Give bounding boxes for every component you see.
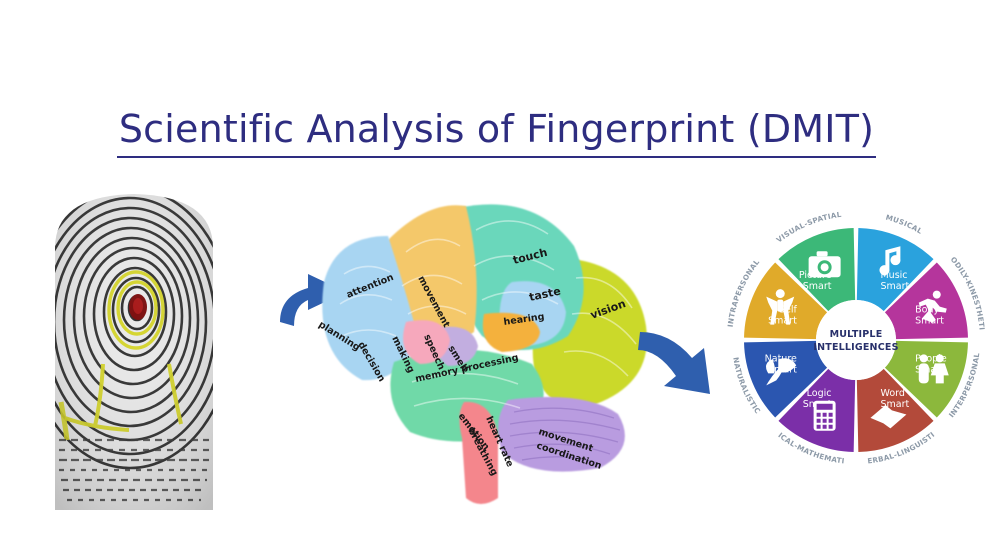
page-title-block: Scientific Analysis of Fingerprint (DMIT… [0,108,993,158]
fingerprint-image [45,188,223,518]
brain-svg: attentionplanningdecisionmakingmovementt… [296,186,666,516]
wheel-center-line2: INTELLIGENCES [813,342,898,353]
wheel-segment-label: Word [880,388,904,399]
page-title: Scientific Analysis of Fingerprint (DMIT… [117,108,876,158]
dmit-infographic-page: Scientific Analysis of Fingerprint (DMIT… [0,0,993,552]
brain-diagram: attentionplanningdecisionmakingmovementt… [296,186,666,516]
wheel-center-hub [816,300,896,380]
wheel-outer-label: MUSICAL [885,213,925,236]
wheel-segment-label: Logic [807,388,832,399]
multiple-intelligences-wheel: MULTIPLE INTELLIGENCES MusicSmartBodySma… [722,194,990,480]
wheel-segment-label: Smart [880,281,909,292]
fingerprint-svg [45,188,223,518]
wheel-svg: MULTIPLE INTELLIGENCES MusicSmartBodySma… [722,194,990,480]
calculator-icon [814,401,836,431]
wheel-segment-label: Smart [803,281,832,292]
wheel-center-line1: MULTIPLE [830,329,883,340]
